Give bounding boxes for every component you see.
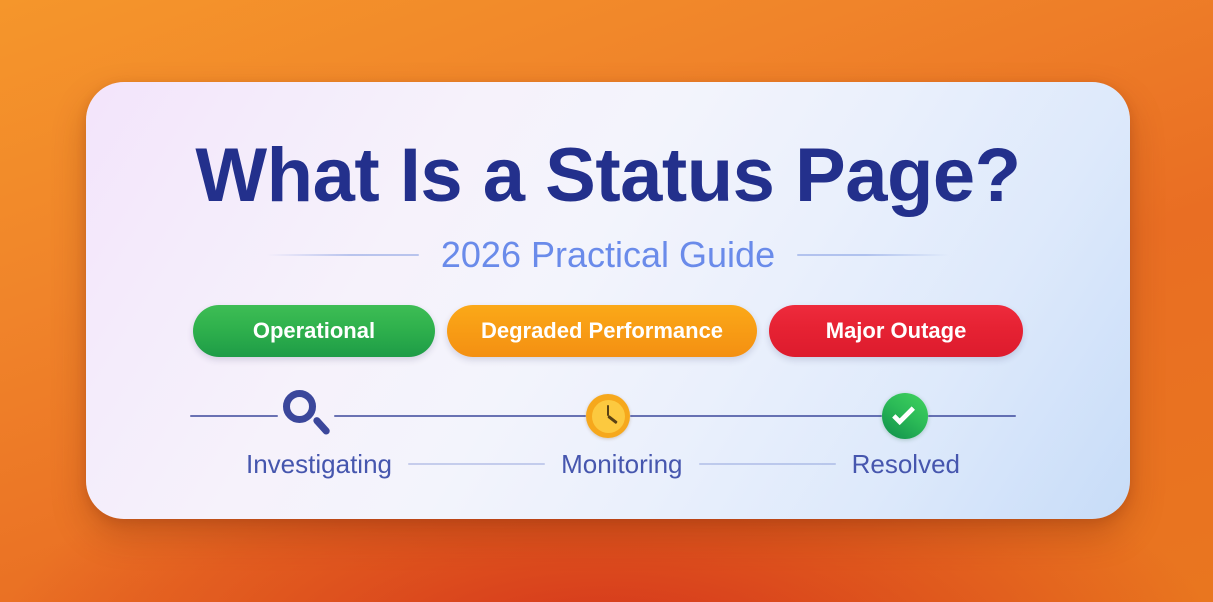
subtitle-rule-right [797,254,949,256]
subtitle-rule-left [267,254,419,256]
clock-icon [586,394,630,438]
check-circle-icon [882,393,928,439]
status-page-card: What Is a Status Page? 2026 Practical Gu… [86,82,1130,519]
subtitle-row: 2026 Practical Guide [86,234,1130,276]
status-badge-degraded-performance[interactable]: Degraded Performance [447,305,757,357]
page-title: What Is a Status Page? [86,138,1130,214]
timeline-label-investigating: Investigating [246,449,392,480]
timeline-node-investigating[interactable] [278,388,334,444]
incident-timeline [190,395,1016,437]
timeline-connector-end [928,415,1016,417]
timeline-connector-2 [630,415,882,417]
page-subtitle: 2026 Practical Guide [441,234,775,276]
timeline-connector-start [190,415,278,417]
timeline-label-monitoring: Monitoring [561,449,682,480]
timeline-node-resolved[interactable] [882,393,928,439]
timeline-connector-1 [334,415,586,417]
label-connector-1 [392,463,561,465]
status-badge-operational[interactable]: Operational [193,305,435,357]
timeline-label-row: Investigating Monitoring Resolved [190,447,1016,481]
status-badge-row: Operational Degraded Performance Major O… [86,305,1130,357]
label-connector-2 [683,463,852,465]
timeline-label-resolved: Resolved [852,449,960,480]
status-badge-major-outage[interactable]: Major Outage [769,305,1023,357]
timeline-node-monitoring[interactable] [586,394,630,438]
magnifier-icon [278,388,334,444]
